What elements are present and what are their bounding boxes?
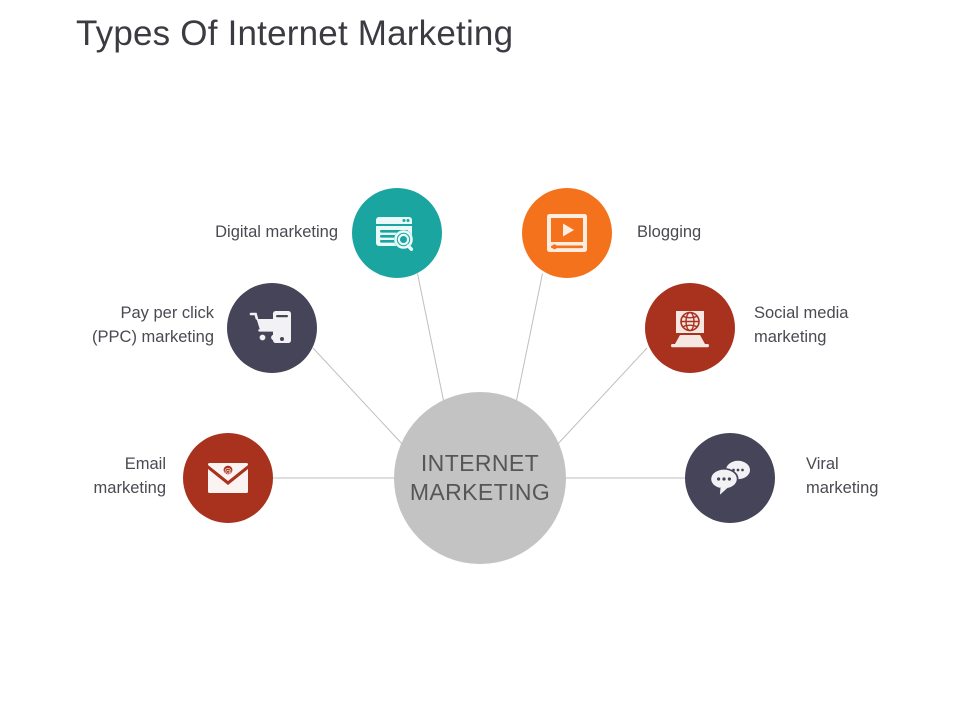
node-blogging[interactable] (522, 188, 612, 278)
envelope-at-icon: @ (206, 461, 250, 495)
node-email-marketing[interactable]: @ (183, 433, 273, 523)
connector-lines (0, 0, 960, 720)
node-pay-per-click[interactable] (227, 283, 317, 373)
node-social-media[interactable] (645, 283, 735, 373)
label-email-marketing: Email marketing (20, 452, 166, 501)
node-viral-marketing[interactable] (685, 433, 775, 523)
center-hub[interactable]: INTERNET MARKETING (394, 392, 566, 564)
hub-title-line-2: MARKETING (410, 478, 550, 507)
label-social-media: Social media marketing (754, 301, 954, 350)
label-pay-per-click: Pay per click (PPC) marketing (30, 301, 214, 350)
connector-social-media (556, 348, 647, 446)
label-viral-marketing: Viral marketing (806, 452, 956, 501)
connector-blogging (517, 274, 543, 401)
label-digital-marketing: Digital marketing (150, 220, 338, 244)
label-blogging: Blogging (637, 220, 837, 244)
svg-text:@: @ (224, 466, 232, 475)
video-player-icon (544, 212, 590, 254)
cart-mobile-icon (249, 306, 295, 350)
connector-pay-per-click (313, 348, 404, 446)
chat-bubbles-icon (707, 457, 753, 499)
page-title: Types Of Internet Marketing (76, 14, 513, 54)
laptop-globe-icon (667, 307, 713, 349)
connector-digital-marketing (418, 274, 444, 401)
hub-title-line-1: INTERNET (421, 449, 539, 478)
slide-canvas: Types Of Internet Marketing INTERNET MAR… (0, 0, 960, 720)
browser-search-icon (374, 210, 420, 256)
node-digital-marketing[interactable] (352, 188, 442, 278)
